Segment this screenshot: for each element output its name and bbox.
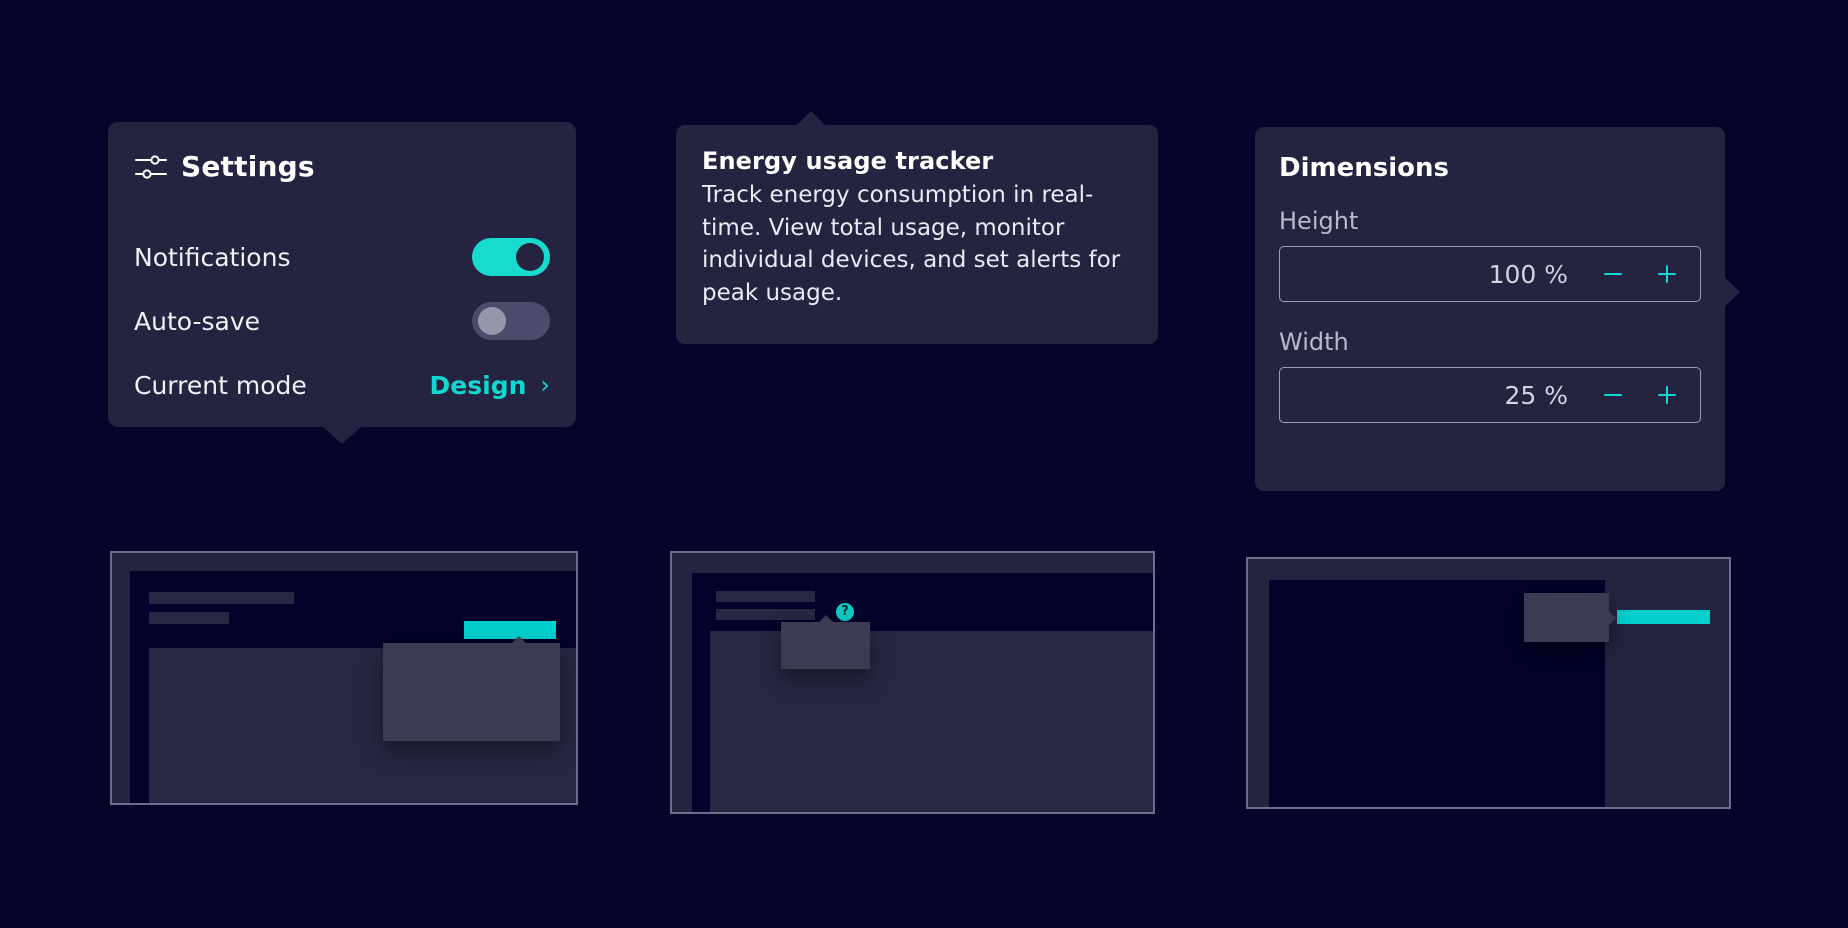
placeholder-panel <box>710 631 1153 812</box>
thumb-popover <box>383 643 560 741</box>
popover-pointer <box>819 615 833 622</box>
placeholder-bar <box>149 612 229 624</box>
popover-pointer <box>512 636 526 643</box>
settings-title: Settings <box>181 150 315 183</box>
thumbnail-popover-left-of-bar[interactable] <box>1246 557 1731 809</box>
toggle-knob <box>516 243 544 271</box>
placeholder-bar <box>716 591 815 602</box>
width-label: Width <box>1279 328 1701 356</box>
energy-usage-tooltip: Energy usage tracker Track energy consum… <box>676 125 1158 344</box>
settings-card-pointer <box>322 426 362 444</box>
current-mode-link[interactable]: Design › <box>430 371 550 400</box>
setting-label-current-mode: Current mode <box>134 371 307 400</box>
setting-label-notifications: Notifications <box>134 243 290 272</box>
minus-icon[interactable] <box>1586 383 1640 407</box>
plus-icon[interactable] <box>1640 262 1694 286</box>
notifications-toggle[interactable] <box>472 238 550 276</box>
width-value: 25 % <box>1504 381 1568 410</box>
thumbnail-help-badge-tooltip[interactable]: ? <box>670 551 1155 814</box>
help-icon[interactable]: ? <box>836 603 854 621</box>
minus-icon[interactable] <box>1586 262 1640 286</box>
thumb-action-button[interactable] <box>1617 610 1710 624</box>
thumb-action-button[interactable] <box>464 621 556 639</box>
plus-icon[interactable] <box>1640 383 1694 407</box>
setting-row-notifications: Notifications <box>134 225 550 289</box>
settings-card: Settings Notifications Auto-save Current… <box>108 122 576 427</box>
tooltip-pointer <box>796 111 826 126</box>
height-stepper[interactable]: 100 % <box>1279 246 1701 302</box>
setting-row-current-mode: Current mode Design › <box>134 353 550 417</box>
tooltip-body: Track energy consumption in real-time. V… <box>702 179 1132 310</box>
setting-row-autosave: Auto-save <box>134 289 550 353</box>
tooltip-title: Energy usage tracker <box>702 147 1132 175</box>
dimensions-title: Dimensions <box>1279 153 1701 183</box>
thumb-popover <box>781 622 870 669</box>
dimensions-panel-pointer <box>1724 277 1740 307</box>
sliders-icon <box>134 153 168 181</box>
placeholder-bar <box>149 592 294 604</box>
thumbnail-popover-below-button[interactable] <box>110 551 578 805</box>
chevron-right-icon: › <box>540 373 550 397</box>
placeholder-bar <box>716 609 815 620</box>
height-value: 100 % <box>1489 260 1568 289</box>
setting-label-autosave: Auto-save <box>134 307 260 336</box>
popover-pointer <box>1609 611 1616 625</box>
current-mode-value: Design <box>430 371 527 400</box>
toggle-knob <box>478 307 506 335</box>
settings-header: Settings <box>134 150 550 183</box>
width-stepper[interactable]: 25 % <box>1279 367 1701 423</box>
height-label: Height <box>1279 207 1701 235</box>
autosave-toggle[interactable] <box>472 302 550 340</box>
dimensions-panel: Dimensions Height 100 % Width 25 % <box>1255 127 1725 491</box>
thumb-popover <box>1524 593 1609 642</box>
